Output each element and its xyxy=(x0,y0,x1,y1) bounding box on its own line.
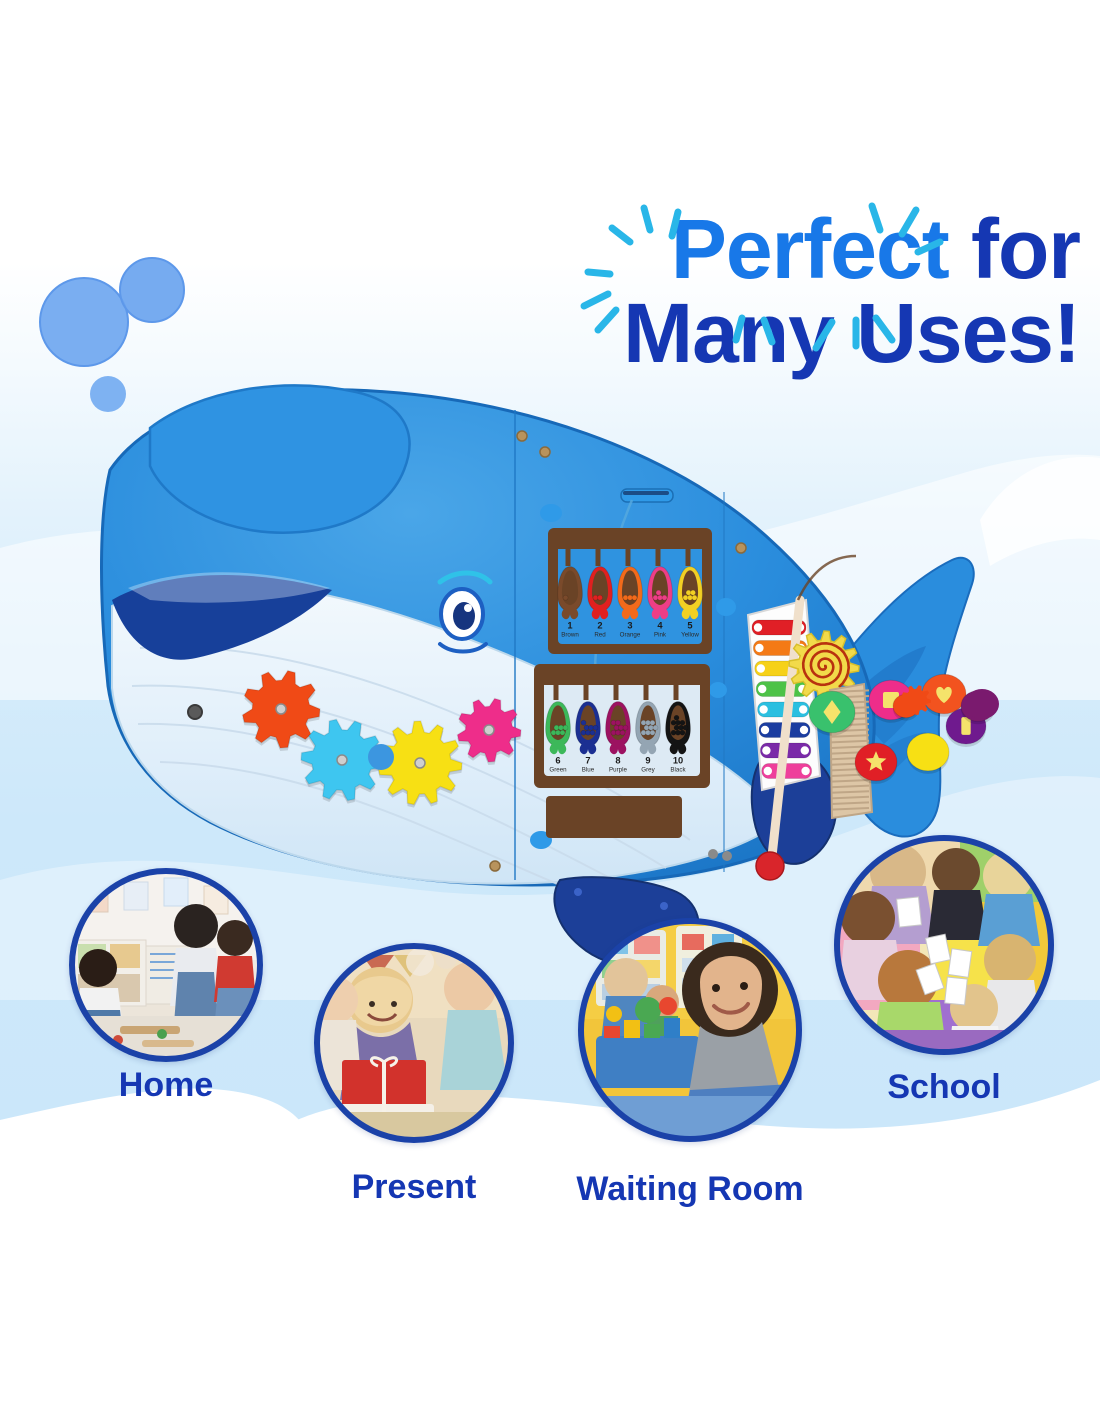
fish-number: 7 xyxy=(585,756,590,766)
fish-number: 2 xyxy=(597,621,602,631)
fish-item-3[interactable]: 3Orange xyxy=(618,567,643,639)
fish-number: 6 xyxy=(555,756,560,766)
fish-label: Brown xyxy=(561,632,579,639)
fish-number: 5 xyxy=(687,621,692,631)
fish-label: Yellow xyxy=(681,632,699,639)
use-case-label-school: School xyxy=(744,1068,1100,1107)
fish-number: 1 xyxy=(567,621,572,631)
fish-item-10[interactable]: 10Black xyxy=(666,702,691,774)
fish-item-9[interactable]: 9Grey xyxy=(636,702,661,774)
fish-number: 8 xyxy=(615,756,620,766)
fish-label: Green xyxy=(549,767,567,774)
use-case-circle-school[interactable] xyxy=(834,835,1054,1055)
fish-label: Blue xyxy=(582,767,595,774)
fish-number: 3 xyxy=(627,621,632,631)
use-case-label-home: Home xyxy=(0,1066,366,1105)
fish-number: 10 xyxy=(673,756,683,766)
poster: 1Brown2Red3Orange4Pink5Yellow 6Green7Blu… xyxy=(0,0,1100,1422)
fish-item-1[interactable]: 1Brown xyxy=(558,567,583,639)
fish-bottom-row[interactable]: 6Green7Blue8Purple9Grey10Black xyxy=(546,702,691,774)
fish-label: Pink xyxy=(654,632,667,639)
fish-item-6[interactable]: 6Green xyxy=(546,702,571,774)
use-case-circle-present[interactable] xyxy=(314,943,514,1143)
use-case-circle-waiting[interactable] xyxy=(578,918,802,1142)
fish-item-2[interactable]: 2Red xyxy=(588,567,613,639)
fish-label: Black xyxy=(670,767,686,774)
fish-beads xyxy=(563,595,568,600)
fish-label: Red xyxy=(594,632,606,639)
use-case-label-waiting: Waiting Room xyxy=(490,1170,890,1209)
fish-number: 9 xyxy=(645,756,650,766)
fish-label: Orange xyxy=(620,632,641,639)
fish-label: Purple xyxy=(609,767,627,774)
fish-item-4[interactable]: 4Pink xyxy=(648,567,673,639)
use-case-circle-home[interactable] xyxy=(69,868,263,1062)
fish-beads xyxy=(623,595,637,600)
fish-item-7[interactable]: 7Blue xyxy=(576,702,601,774)
fish-top-row[interactable]: 1Brown2Red3Orange4Pink5Yellow xyxy=(558,567,703,639)
fish-number: 4 xyxy=(657,621,663,631)
fish-item-5[interactable]: 5Yellow xyxy=(678,567,703,639)
fish-item-8[interactable]: 8Purple xyxy=(606,702,631,774)
fish-label: Grey xyxy=(641,767,655,774)
